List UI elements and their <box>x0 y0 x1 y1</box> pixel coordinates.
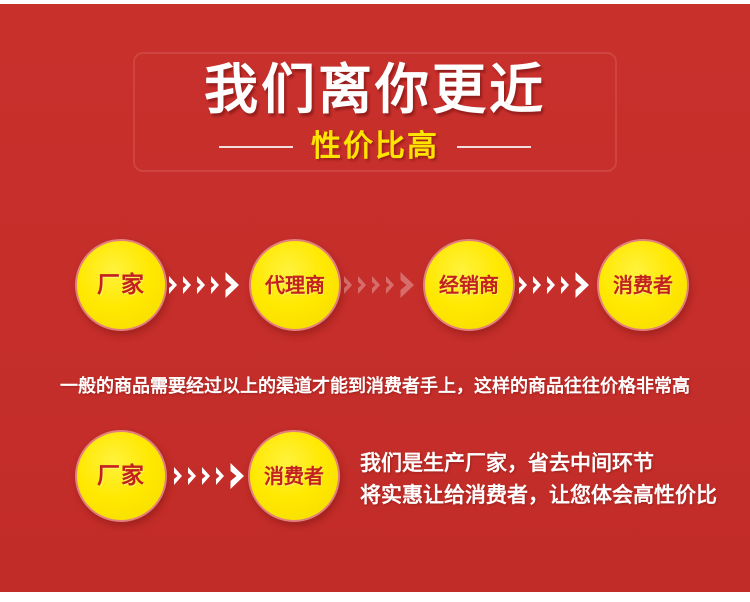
chevron-icon <box>173 466 184 486</box>
chevron-icon <box>385 275 396 295</box>
chevron-icon <box>518 275 529 295</box>
chevron-icon <box>196 275 207 295</box>
node-label: 厂家 <box>97 274 145 297</box>
chevron-icon <box>532 275 543 295</box>
value-proposition-text: 我们是生产厂家，省去中间环节 将实惠让给消费者，让您体会高性价比 <box>360 447 717 511</box>
chain-node-manufacturer: 厂家 <box>75 239 167 331</box>
rule-left-icon <box>219 146 293 148</box>
arrow-group-1 <box>168 270 241 300</box>
node-label: 经销商 <box>439 275 499 295</box>
value-line-2: 将实惠让给消费者，让您体会高性价比 <box>360 479 717 511</box>
arrow-group-3 <box>518 270 591 300</box>
chevron-icon <box>182 275 193 295</box>
chain-node-consumer: 消费者 <box>597 239 689 331</box>
chevron-icon <box>560 275 571 295</box>
chevron-icon <box>546 275 557 295</box>
node-label: 消费者 <box>264 466 324 486</box>
node-label: 厂家 <box>97 465 145 488</box>
chevron-large-icon <box>224 271 241 299</box>
value-line-1: 我们是生产厂家，省去中间环节 <box>360 447 717 479</box>
chevron-large-icon <box>574 271 591 299</box>
chevron-icon <box>357 275 368 295</box>
arrow-group-4 <box>173 461 246 491</box>
chevron-large-icon <box>399 271 416 299</box>
page-title: 我们离你更近 <box>133 59 617 121</box>
node-label: 消费者 <box>613 275 673 295</box>
chevron-icon <box>187 466 198 486</box>
chevron-large-icon <box>229 462 246 490</box>
chevron-icon <box>343 275 354 295</box>
chain-node-agent: 代理商 <box>249 239 341 331</box>
bottom-node-consumer: 消费者 <box>248 430 340 522</box>
chevron-icon <box>371 275 382 295</box>
page-subtitle: 性价比高 <box>311 130 439 164</box>
chevron-icon <box>210 275 221 295</box>
chain-caption: 一般的商品需要经过以上的渠道才能到消费者手上，这样的商品往往价格非常高 <box>0 374 750 400</box>
chevron-icon <box>168 275 179 295</box>
chevron-icon <box>215 466 226 486</box>
bottom-node-manufacturer: 厂家 <box>75 430 167 522</box>
arrow-group-2 <box>343 270 416 300</box>
subtitle-row: 性价比高 <box>133 126 617 168</box>
chevron-icon <box>201 466 212 486</box>
promo-banner: 我们离你更近 性价比高 厂家 代理商 经销商 消费者 一般的商 <box>0 0 750 602</box>
node-label: 代理商 <box>265 275 325 295</box>
chain-node-dealer: 经销商 <box>423 239 515 331</box>
rule-right-icon <box>457 146 531 148</box>
